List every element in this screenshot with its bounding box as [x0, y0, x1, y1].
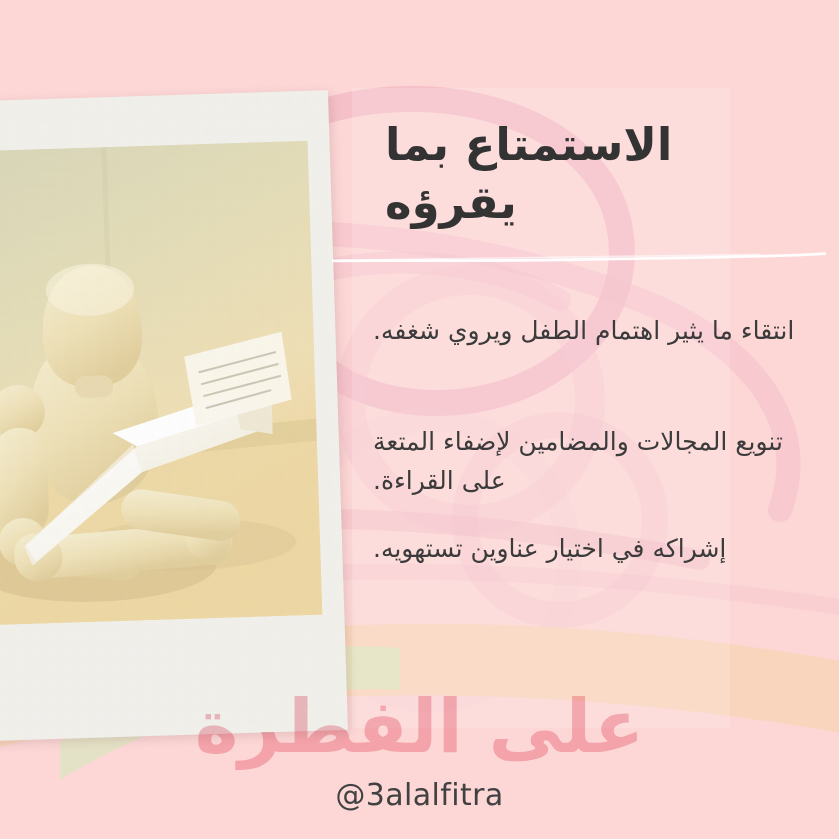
- poster-canvas: الاستمتاع بما يقرؤه انتقاء ما يثير اهتما…: [0, 0, 839, 839]
- body-paragraph-3: إشراكه في اختيار عناوين تستهويه.: [373, 530, 803, 569]
- brush-stroke-divider: [330, 248, 830, 264]
- page-title: الاستمتاع بما يقرؤه: [385, 116, 805, 231]
- brand-watermark: على الفطرة: [0, 690, 839, 764]
- paragraph-spacer-1: [373, 351, 803, 423]
- body-paragraph-1: انتقاء ما يثير اهتمام الطفل ويروي شغفه.: [373, 312, 803, 351]
- body-paragraph-2: تنويع المجالات والمضامين لإضفاء المتعة ع…: [373, 423, 803, 501]
- paragraph-spacer-2: [373, 500, 803, 530]
- photo-image: [0, 141, 322, 626]
- body-text-block: انتقاء ما يثير اهتمام الطفل ويروي شغفه. …: [373, 312, 803, 569]
- social-handle: @3alalfitra: [0, 778, 839, 813]
- polaroid-photo-frame: [0, 90, 348, 742]
